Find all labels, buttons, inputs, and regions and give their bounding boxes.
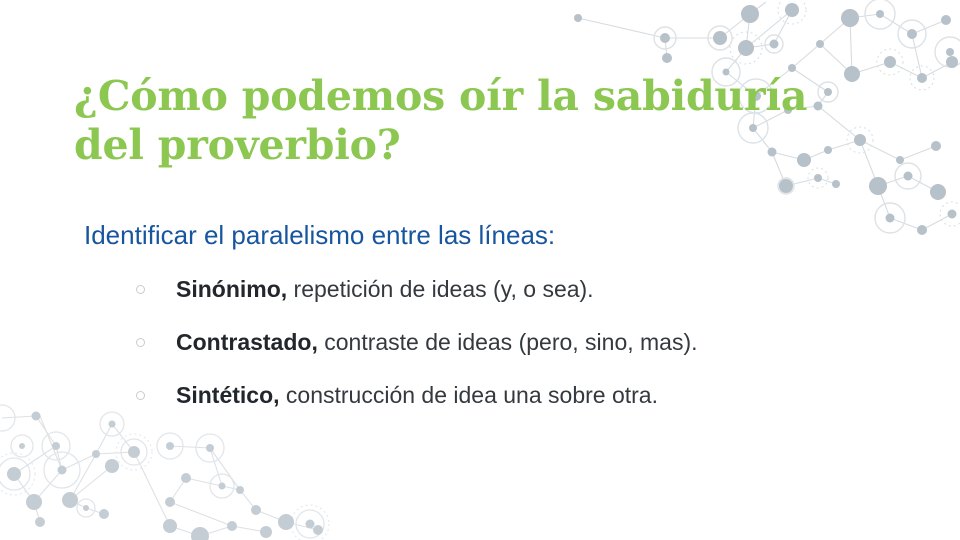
list-item: Sinónimo, repetición de ideas (y, o sea)…: [136, 274, 698, 327]
list-item-rest: contraste de ideas (pero, sino, mas).: [318, 329, 698, 355]
list-item: Contrastado, contraste de ideas (pero, s…: [136, 327, 698, 380]
list-item-rest: repetición de ideas (y, o sea).: [287, 276, 593, 302]
bullet-list: Sinónimo, repetición de ideas (y, o sea)…: [136, 274, 698, 433]
list-item-text: Sinónimo, repetición de ideas (y, o sea)…: [176, 274, 594, 304]
page-title: ¿Cómo podemos oír la sabiduría del prove…: [74, 72, 774, 170]
list-item: Sintético, construcción de idea una sobr…: [136, 380, 698, 433]
slide-content: ¿Cómo podemos oír la sabiduría del prove…: [0, 0, 960, 540]
subtitle: Identificar el paralelismo entre las lín…: [84, 218, 555, 252]
list-item-text: Sintético, construcción de idea una sobr…: [176, 380, 658, 410]
page-title-line-1: ¿Cómo podemos oír la sabiduría: [74, 72, 774, 121]
page-title-line-2: del proverbio?: [74, 121, 774, 170]
slide-canvas: ¿Cómo podemos oír la sabiduría del prove…: [0, 0, 960, 540]
list-item-lead: Contrastado,: [176, 329, 318, 355]
list-item-lead: Sintético,: [176, 382, 280, 408]
list-item-rest: construcción de idea una sobre otra.: [280, 382, 658, 408]
list-item-text: Contrastado, contraste de ideas (pero, s…: [176, 327, 698, 357]
list-item-lead: Sinónimo,: [176, 276, 287, 302]
